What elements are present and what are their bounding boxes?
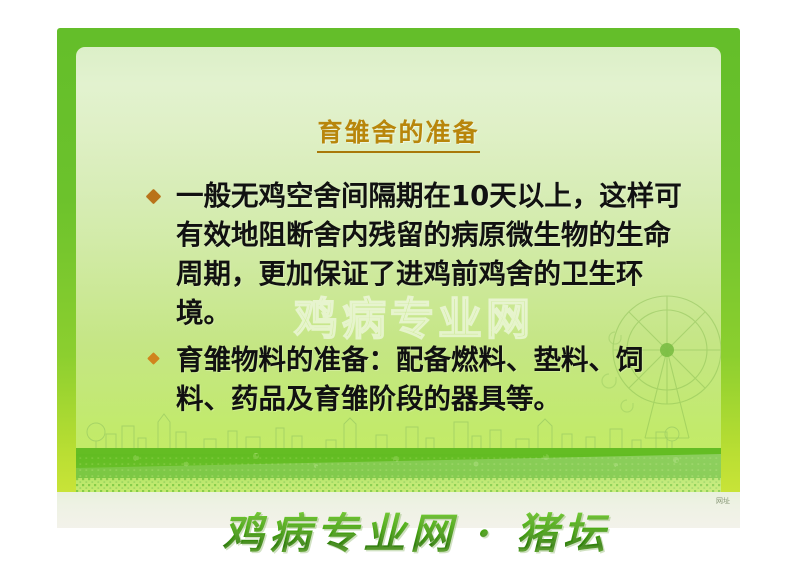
slide-title-text: 育雏舍的准备 [317,113,479,153]
site-logo-wordmark: 鸡病专业网 · 猪坛 [222,500,610,561]
list-item: 一般无鸡空舍间隔期在10天以上，这样可有效地阻断舍内残留的病原微生物的生命周期，… [142,177,693,333]
bullet-list: 一般无鸡空舍间隔期在10天以上，这样可有效地阻断舍内残留的病原微生物的生命周期，… [142,177,693,427]
slide-content-panel: 育雏舍的准备 鸡病专业网 一般无鸡空舍间隔期在10天以上，这样可有效地阻断舍内残… [76,47,721,510]
diamond-bullet-icon [147,352,160,365]
slide-canvas: 育雏舍的准备 鸡病专业网 一般无鸡空舍间隔期在10天以上，这样可有效地阻断舍内残… [0,0,800,565]
corner-mark: 网址 [716,496,730,506]
diamond-bullet-icon [146,189,162,205]
bullet-text: 育雏物料的准备：配备燃料、垫料、饲料、药品及育雏阶段的器具等。 [176,344,644,415]
bullet-text: 一般无鸡空舍间隔期在10天以上，这样可有效地阻断舍内残留的病原微生物的生命周期，… [176,180,682,329]
slide-title: 育雏舍的准备 [76,113,721,153]
slide-frame: 育雏舍的准备 鸡病专业网 一般无鸡空舍间隔期在10天以上，这样可有效地阻断舍内残… [57,28,740,510]
list-item: 育雏物料的准备：配备燃料、垫料、饲料、药品及育雏阶段的器具等。 [142,341,693,419]
